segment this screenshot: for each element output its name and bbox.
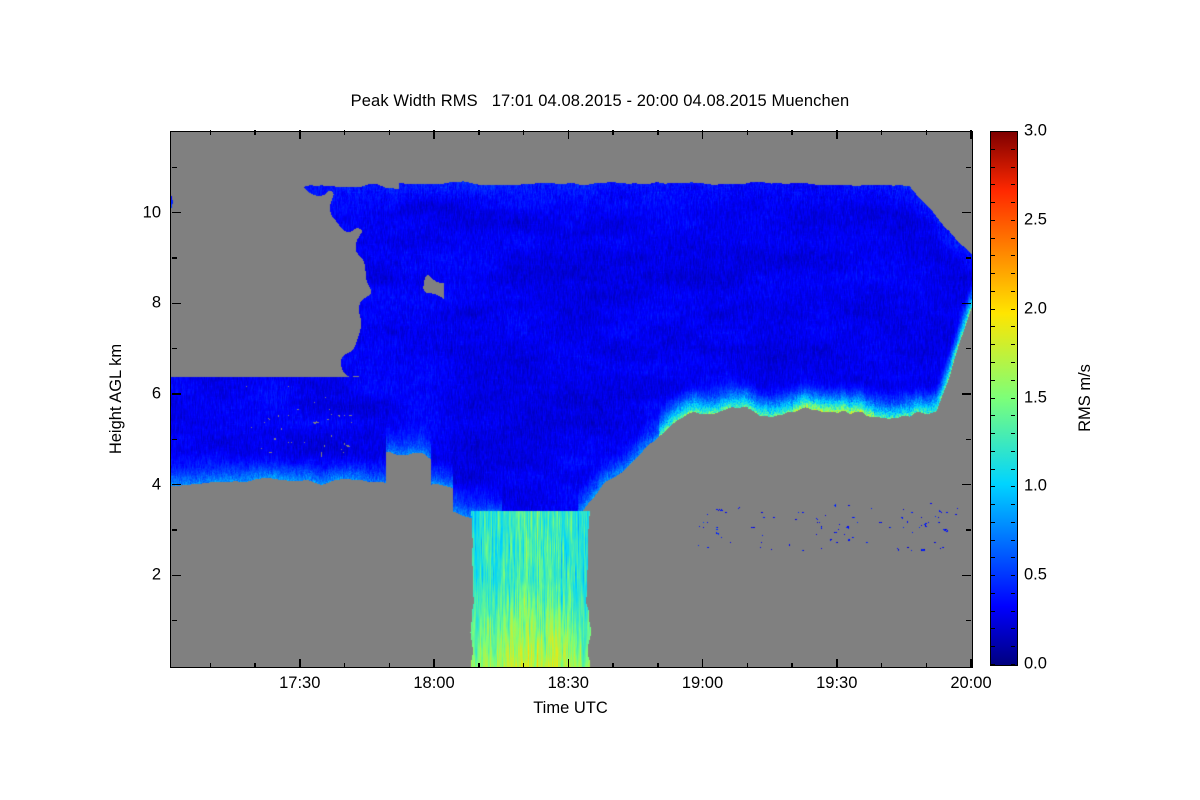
colorbar-tick [1011,593,1015,594]
x-tick [478,663,480,668]
x-tick [657,130,659,135]
x-axis-title: Time UTC [170,699,971,718]
colorbar-title: RMS m/s [1076,364,1095,432]
colorbar-tick [1011,664,1015,665]
y-tick [962,484,971,486]
colorbar-tick [991,362,995,363]
x-tick [254,130,256,135]
colorbar-tick [991,184,995,185]
x-tick-label: 19:00 [682,674,723,693]
x-tick [612,130,614,135]
x-tick-label: 18:30 [548,674,589,693]
colorbar-tick [991,380,995,381]
x-tick [970,659,972,668]
colorbar-tick-label: 1.5 [1024,388,1047,407]
y-tick [172,439,177,441]
x-tick [210,130,212,135]
y-tick [966,167,971,169]
y-tick [172,257,177,259]
colorbar-tick-label: 3.0 [1024,122,1047,141]
x-tick [926,663,928,668]
colorbar-tick [1011,220,1015,221]
x-tick [881,663,883,668]
x-tick [747,130,749,135]
y-tick [172,575,181,577]
colorbar-tick-label: 2.0 [1024,299,1047,318]
colorbar-tick [991,344,995,345]
colorbar-tick [991,238,995,239]
x-tick [344,130,346,135]
colorbar-tick [991,628,995,629]
colorbar-tick [991,291,995,292]
colorbar-tick [1011,398,1015,399]
colorbar-tick [1011,646,1015,647]
colorbar-tick [991,202,995,203]
colorbar-tick [1011,273,1015,274]
y-tick [172,484,181,486]
colorbar-tick [1011,131,1015,132]
x-tick [568,130,570,139]
x-tick [836,659,838,668]
colorbar-tick [991,167,995,168]
heatmap-plot-area [170,131,973,668]
x-tick [702,130,704,139]
colorbar-tick [1011,575,1015,576]
colorbar-tick-label: 0.5 [1024,566,1047,585]
colorbar-tick [1011,504,1015,505]
colorbar-tick [1011,255,1015,256]
x-tick [389,663,391,668]
colorbar-tick [991,611,995,612]
colorbar-tick-label: 0.0 [1024,655,1047,674]
y-axis-title-wrap: Height AGL km [113,0,114,800]
y-tick [966,348,971,350]
x-tick [926,130,928,135]
colorbar-tick [1011,486,1015,487]
x-tick-label: 19:30 [816,674,857,693]
colorbar-tick [1011,557,1015,558]
colorbar-tick [991,309,995,310]
y-tick [172,529,177,531]
colorbar-tick [991,486,995,487]
x-tick [389,130,391,135]
y-tick-label: 8 [152,294,161,313]
colorbar-tick [991,326,995,327]
colorbar-tick [1011,469,1015,470]
y-tick [172,303,181,305]
y-tick-label: 10 [143,203,161,222]
colorbar-tick [1011,167,1015,168]
y-tick-label: 2 [152,566,161,585]
y-tick [966,620,971,622]
x-tick-label: 17:30 [279,674,320,693]
colorbar-tick [991,220,995,221]
figure-canvas: Peak Width RMS 17:01 04.08.2015 - 20:00 … [0,0,1200,800]
colorbar-tick [991,469,995,470]
colorbar-tick [1011,344,1015,345]
colorbar-tick [1011,540,1015,541]
colorbar-tick [991,646,995,647]
x-tick [433,659,435,668]
x-tick [702,659,704,668]
y-tick [172,212,181,214]
y-tick [962,575,971,577]
colorbar-tick [1011,184,1015,185]
y-tick [966,439,971,441]
y-tick [962,212,971,214]
colorbar-tick-label: 2.5 [1024,210,1047,229]
colorbar-tick [1011,415,1015,416]
x-tick [299,130,301,139]
colorbar-tick [991,451,995,452]
colorbar-tick [1011,362,1015,363]
y-tick-label: 6 [152,384,161,403]
heatmap-image [171,132,972,667]
y-tick [962,303,971,305]
x-tick [970,130,972,139]
x-tick [210,663,212,668]
x-tick [523,663,525,668]
colorbar-tick [1011,326,1015,327]
colorbar-tick [991,504,995,505]
colorbar-tick [991,398,995,399]
colorbar-tick-label: 1.0 [1024,477,1047,496]
colorbar-tick [991,131,995,132]
colorbar-tick [1011,433,1015,434]
colorbar-tick [1011,451,1015,452]
x-tick [344,663,346,668]
colorbar-tick [1011,628,1015,629]
colorbar-tick [1011,202,1015,203]
x-tick [657,663,659,668]
x-tick [568,659,570,668]
colorbar-tick [991,664,995,665]
colorbar-tick [991,557,995,558]
y-tick [966,257,971,259]
x-tick [478,130,480,135]
x-tick [612,663,614,668]
y-tick [172,167,177,169]
colorbar-tick [991,255,995,256]
y-tick [966,529,971,531]
x-tick-label: 18:00 [413,674,454,693]
x-tick [836,130,838,139]
x-tick [433,130,435,139]
x-tick-label: 20:00 [950,674,991,693]
chart-title: Peak Width RMS 17:01 04.08.2015 - 20:00 … [0,92,1200,111]
colorbar-tick [1011,611,1015,612]
colorbar-tick [1011,238,1015,239]
x-tick [523,130,525,135]
x-tick [254,663,256,668]
colorbar-tick [1011,380,1015,381]
colorbar-tick [991,433,995,434]
x-tick [299,659,301,668]
colorbar-tick [991,575,995,576]
x-tick [881,130,883,135]
y-axis-title: Height AGL km [107,344,126,454]
y-tick [172,348,177,350]
y-tick-label: 4 [152,475,161,494]
x-tick [791,663,793,668]
colorbar-tick [1011,291,1015,292]
y-tick [172,393,181,395]
x-tick [791,130,793,135]
y-tick [172,620,177,622]
colorbar-tick [991,415,995,416]
colorbar-tick [991,522,995,523]
colorbar-tick [991,593,995,594]
colorbar-tick [1011,309,1015,310]
colorbar-tick [1011,522,1015,523]
x-tick [747,663,749,668]
colorbar-tick [1011,149,1015,150]
colorbar-tick [991,149,995,150]
colorbar-tick [991,540,995,541]
y-tick [962,393,971,395]
colorbar-tick [991,273,995,274]
